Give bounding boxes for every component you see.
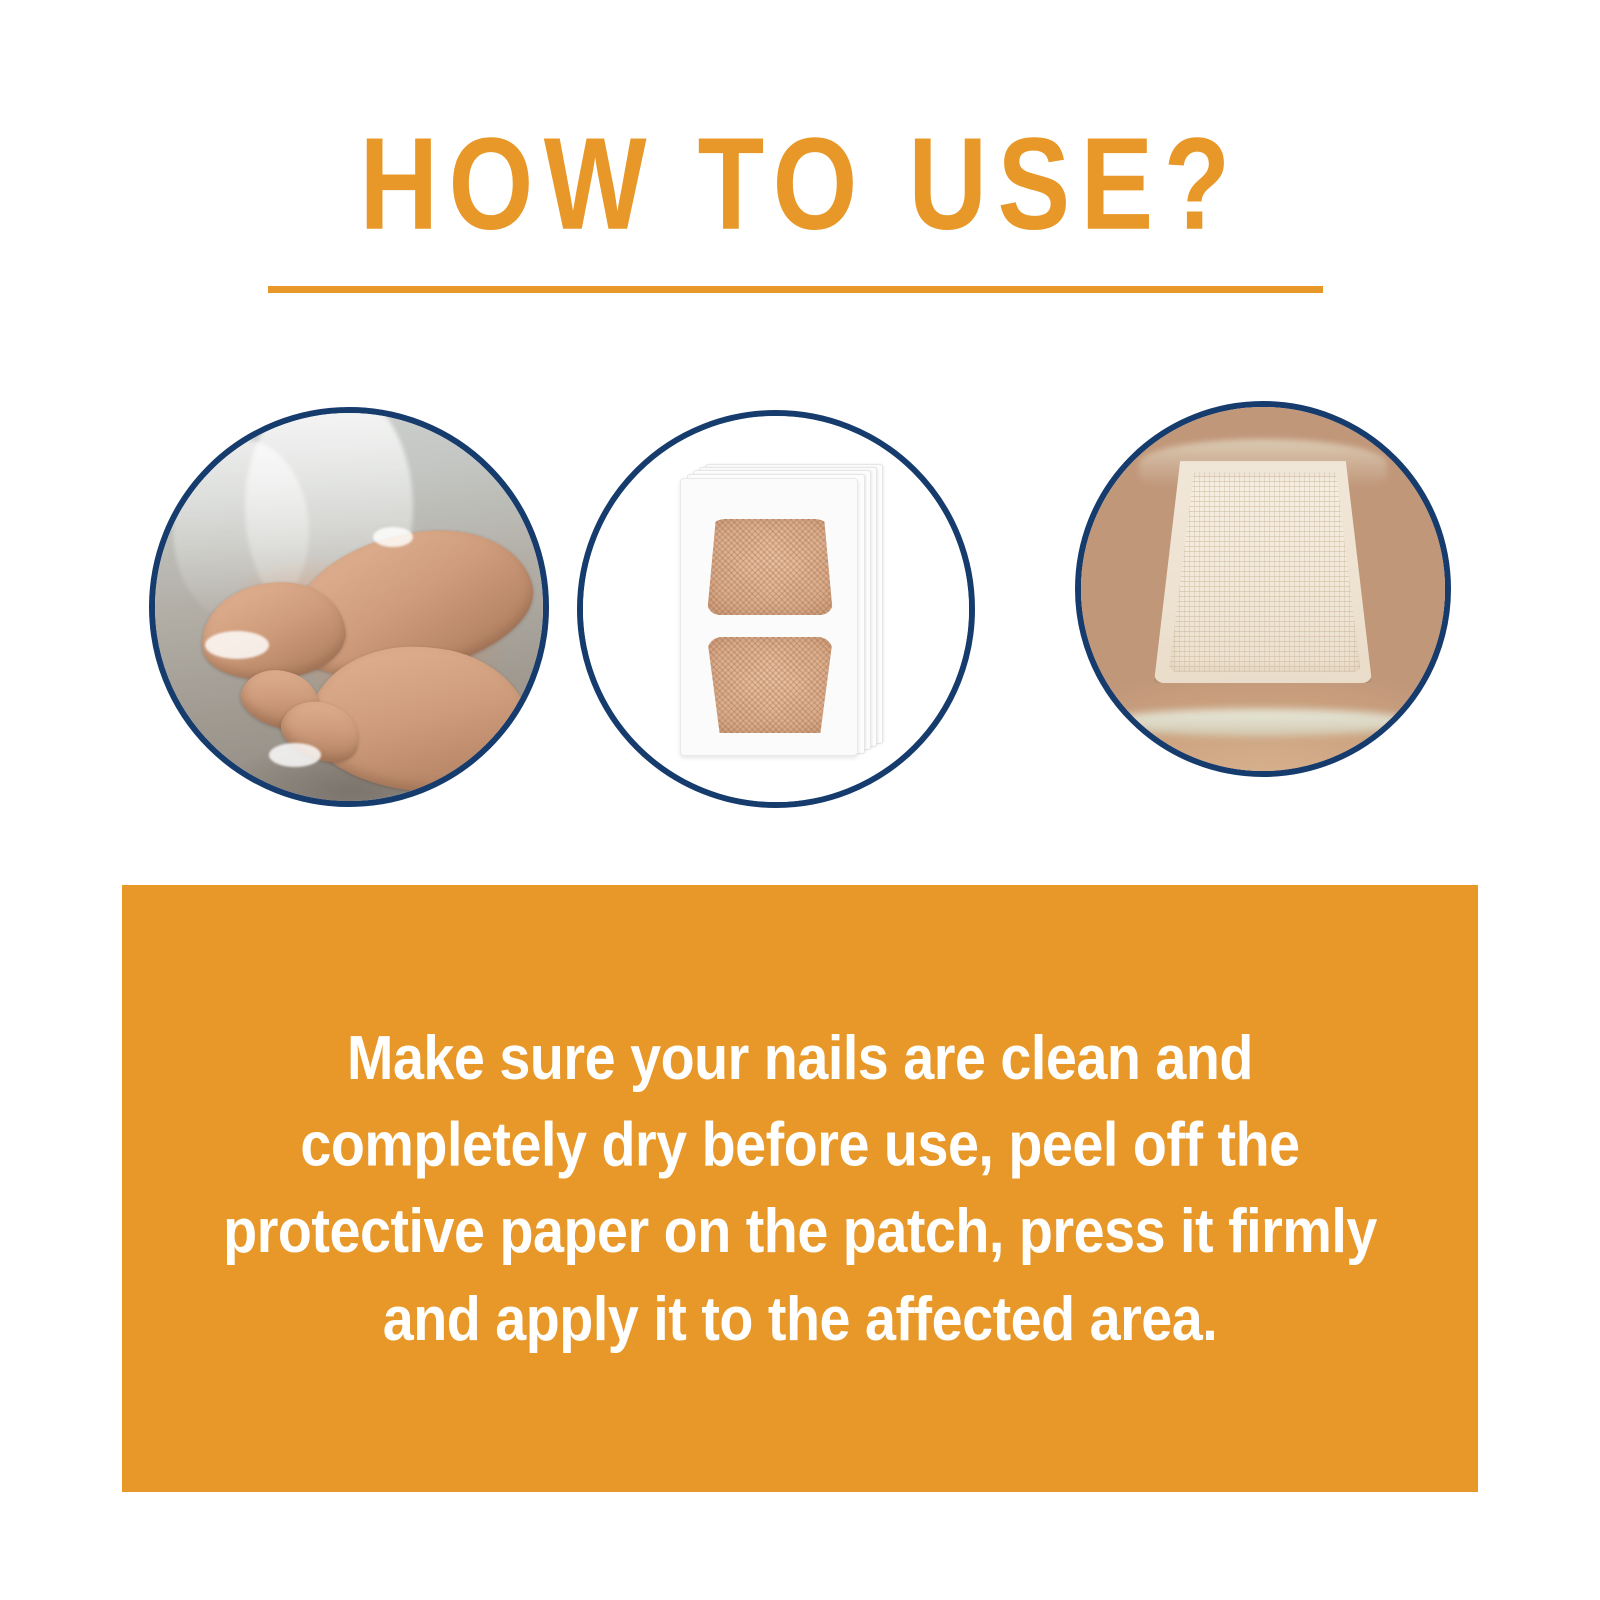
instruction-text: Make sure your nails are clean and compl… [166, 1015, 1433, 1362]
nail-patch-upper [707, 519, 833, 615]
splash-drop-b [269, 743, 321, 767]
wash-feet-photo [149, 407, 549, 807]
applied-patch [1169, 472, 1361, 671]
splash-drop-a [205, 631, 269, 659]
instruction-panel: Make sure your nails are clean and compl… [122, 885, 1478, 1492]
splash-drop-c [373, 527, 413, 547]
title-block: HOW TO USE? [0, 118, 1600, 234]
step-image-wash-feet [149, 407, 549, 807]
nail-patch-lower [707, 637, 833, 733]
step-image-patch-sheets [577, 410, 975, 808]
title-underline-divider [268, 286, 1323, 293]
toenail-with-patch-photo [1075, 401, 1451, 777]
page-title: HOW TO USE? [48, 118, 1552, 249]
patch-sheet-stack-photo [583, 416, 969, 802]
nail-tip-edge [1101, 709, 1417, 735]
step-image-apply-patch [1075, 401, 1451, 777]
sheet-layer-front [680, 478, 858, 756]
